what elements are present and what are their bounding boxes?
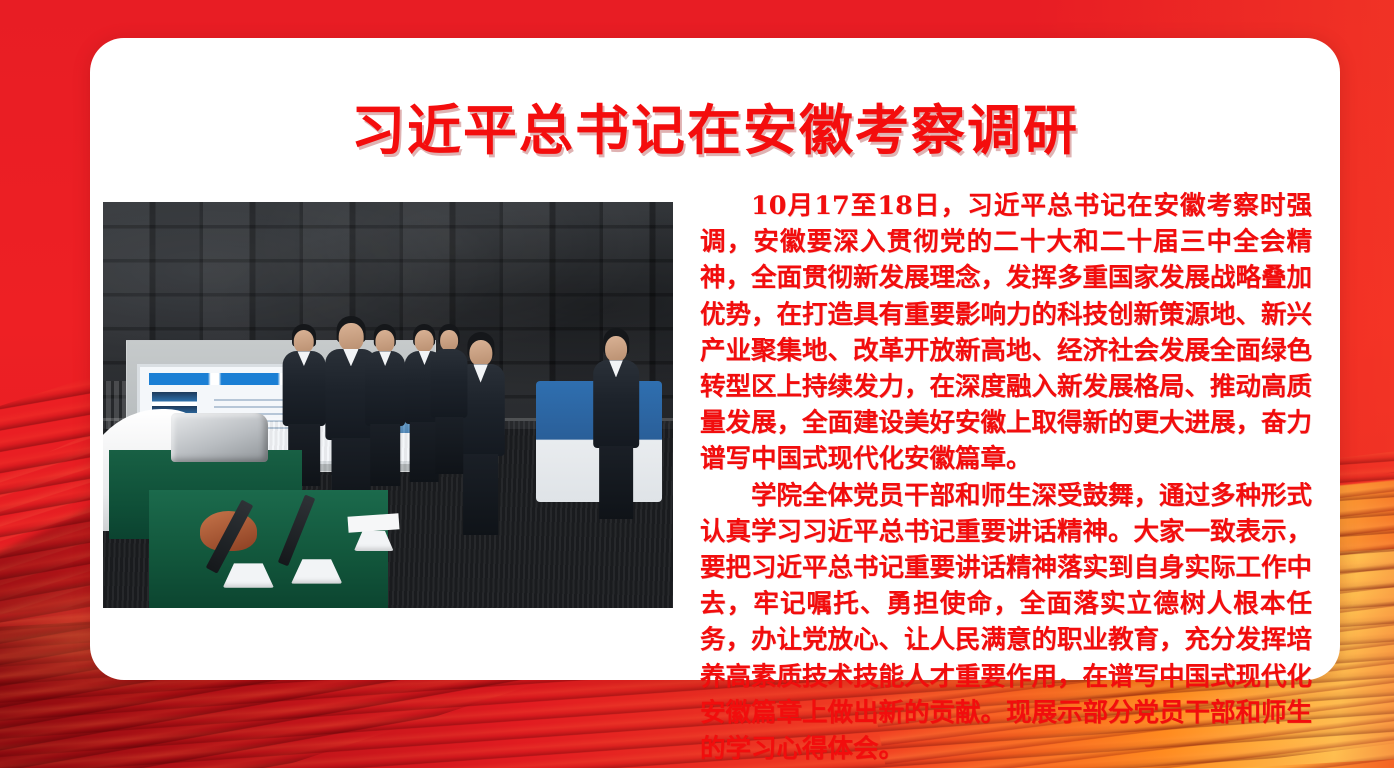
- photo-person-head: [440, 330, 458, 351]
- photo-exhibit-placard: [348, 513, 400, 533]
- photo-person-trousers: [463, 454, 499, 535]
- photo-person-head: [469, 340, 492, 366]
- photo-person-trousers: [599, 446, 633, 519]
- slide-root: 习近平总书记在安徽考察调研: [0, 0, 1394, 768]
- photo-person-head: [605, 336, 627, 363]
- news-photo: [103, 202, 673, 608]
- photo-person-head: [376, 330, 395, 353]
- photo-person-head: [294, 330, 315, 353]
- photo-person-6: [431, 324, 468, 474]
- photo-person-7: [593, 328, 639, 519]
- article-paragraph-1: 10月17至18日，习近平总书记在安徽考察时强调，安徽要深入贯彻党的二十大和二十…: [700, 188, 1312, 478]
- article-body: 10月17至18日，习近平总书记在安徽考察时强调，安徽要深入贯彻党的二十大和二十…: [700, 188, 1312, 767]
- photo-exhibit-engine-unit: [171, 413, 268, 462]
- article-paragraph-2: 学院全体党员干部和师生深受鼓舞，通过多种形式认真学习习近平总书记重要讲话精神。大…: [700, 478, 1312, 768]
- photo-person-3: [365, 324, 405, 486]
- photo-person-jacket: [431, 349, 468, 418]
- photo-person-trousers: [436, 417, 463, 474]
- page-title: 习近平总书记在安徽考察调研: [90, 86, 1340, 165]
- photo-person-head: [339, 323, 364, 350]
- content-card: 习近平总书记在安徽考察调研: [90, 38, 1340, 680]
- photo-exhibit-table-front: [149, 490, 388, 608]
- photo-person-trousers: [370, 424, 400, 486]
